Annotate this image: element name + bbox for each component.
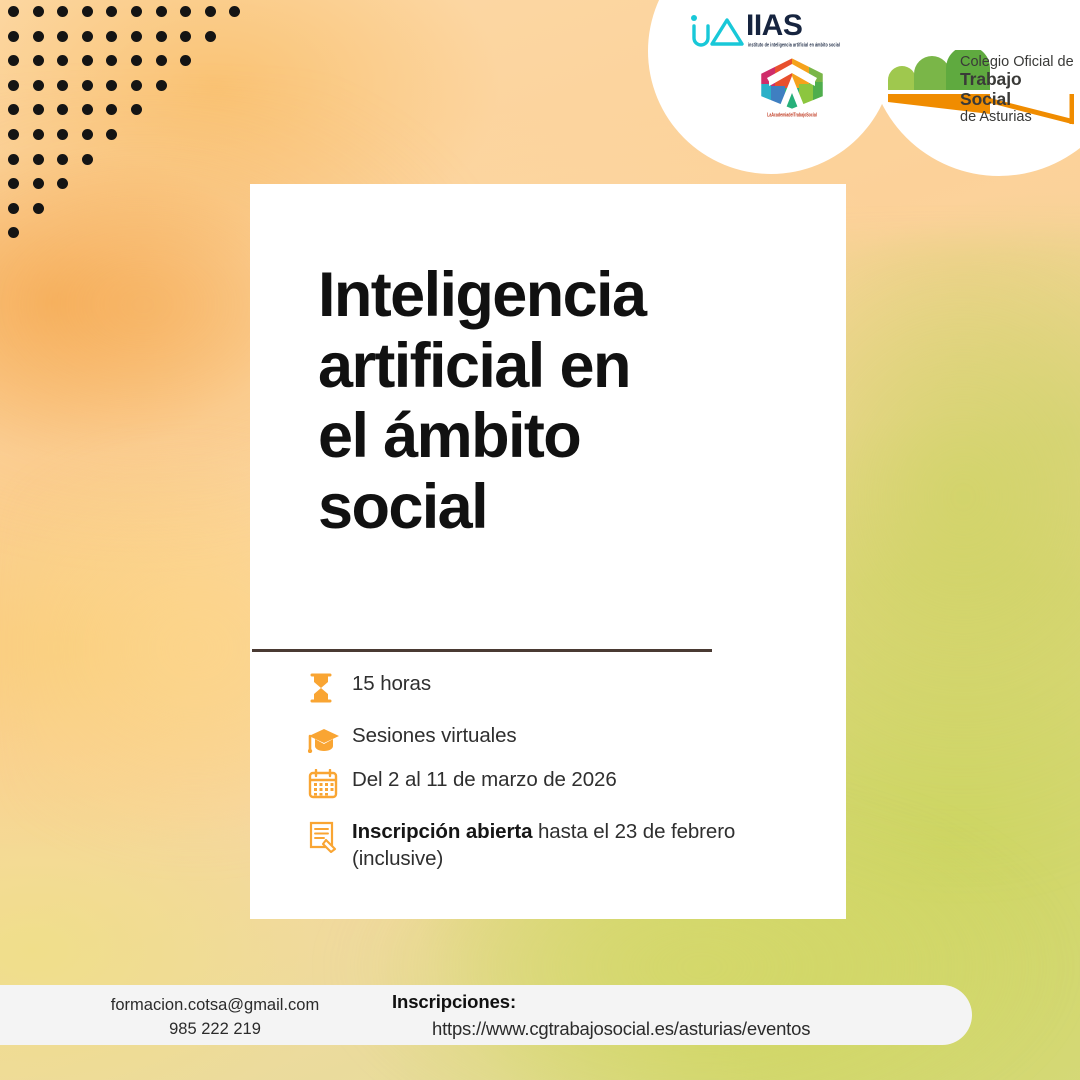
decorative-dot [106,31,117,42]
decorative-dot [106,129,117,140]
decorative-dot [8,203,19,214]
decorative-dot [8,31,19,42]
decorative-dot [205,6,216,17]
detail-row-registration: Inscripción abierta hasta el 23 de febre… [308,819,828,872]
decorative-dot [57,129,68,140]
title-line-3: el ámbito [318,401,718,472]
hourglass-icon [308,671,352,703]
decorative-dot [8,227,19,238]
decorative-dot [57,6,68,17]
decorative-dot [8,55,19,66]
decorative-dot [82,80,93,91]
cotsa-logo: Colegio Oficial de Trabajo Social de Ast… [884,50,1074,128]
decorative-dot [8,6,19,17]
decorative-dot [229,6,240,17]
decorative-dot [82,104,93,115]
decorative-dot [82,129,93,140]
decorative-dot [180,6,191,17]
detail-list: 15 horas Sesiones virtuales [308,671,828,872]
decorative-dot [8,129,19,140]
decorative-dot [106,104,117,115]
decorative-dot [156,80,167,91]
decorative-dot [8,80,19,91]
decorative-dot [82,31,93,42]
decorative-dot [82,6,93,17]
decorative-dot [8,154,19,165]
iias-wordmark: IIAS [746,11,802,41]
graduation-cap-icon [308,723,352,753]
poster-canvas: IIAS instituto de inteligencia artificia… [0,0,1080,1080]
decorative-dot [106,80,117,91]
decorative-dot [180,31,191,42]
detail-text-hours: 15 horas [352,671,431,698]
form-signup-icon [308,819,352,853]
decorative-dot [82,154,93,165]
decorative-dot [57,55,68,66]
decorative-dot [8,104,19,115]
footer-email[interactable]: formacion.cotsa@gmail.com [60,994,370,1018]
cotsa-symbol-icon [884,50,972,124]
registration-bold-label: Inscripción abierta [352,820,532,843]
decorative-dot [131,104,142,115]
decorative-dot [8,178,19,189]
decorative-dot [106,55,117,66]
academia-hexagon-icon [757,56,827,111]
decorative-dot [33,154,44,165]
detail-text-dates: Del 2 al 11 de marzo de 2026 [352,767,617,794]
detail-row-dates: Del 2 al 11 de marzo de 2026 [308,767,828,799]
detail-text-registration: Inscripción abierta hasta el 23 de febre… [352,819,828,872]
decorative-dot [131,31,142,42]
cotsa-line-1: Colegio Oficial de [960,54,1074,70]
decorative-dot [57,104,68,115]
decorative-dot [33,55,44,66]
decorative-dot [33,178,44,189]
iias-logo: IIAS instituto de inteligencia artificia… [688,12,828,58]
decorative-dot [156,6,167,17]
decorative-dot [131,80,142,91]
cotsa-text-block: Colegio Oficial de Trabajo Social de Ast… [960,54,1074,126]
detail-text-modality: Sesiones virtuales [352,723,517,750]
decorative-dot [180,55,191,66]
detail-row-hours: 15 horas [308,671,828,703]
cotsa-line-3: de Asturias [960,109,1074,125]
cotsa-line-2: Trabajo Social [960,70,1074,109]
decorative-dot [156,31,167,42]
content-card: Inteligencia artificial en el ámbito soc… [250,184,846,919]
decorative-dot [57,31,68,42]
iias-mark-icon [688,14,744,53]
decorative-dot [156,55,167,66]
footer-phone[interactable]: 985 222 219 [60,1018,370,1042]
footer-contact-block: formacion.cotsa@gmail.com 985 222 219 [60,994,370,1042]
detail-row-modality: Sesiones virtuales [308,723,828,753]
footer-registration-url[interactable]: https://www.cgtrabajosocial.es/asturias/… [432,1018,810,1040]
decorative-dot-pattern [0,0,260,250]
decorative-dot [33,129,44,140]
decorative-dot [106,6,117,17]
title-line-1: Inteligencia [318,260,718,331]
footer-inscripciones-label: Inscripciones: [392,991,516,1013]
title-line-4: social [318,472,718,543]
decorative-dot [33,31,44,42]
decorative-dot [82,55,93,66]
title-line-2: artificial en [318,331,718,402]
page-title: Inteligencia artificial en el ámbito soc… [318,260,718,542]
academia-tagline: LaAcademiadelTrabajoSocial [758,112,826,118]
academia-logo: LaAcademiadelTrabajoSocial [757,56,827,124]
decorative-dot [33,104,44,115]
iias-tagline: instituto de inteligencia artificial en … [748,42,840,48]
decorative-dot [205,31,216,42]
decorative-dot [33,203,44,214]
calendar-icon [308,767,352,799]
divider [252,649,712,652]
decorative-dot [33,6,44,17]
decorative-dot [57,178,68,189]
footer-bar: formacion.cotsa@gmail.com 985 222 219 In… [0,985,972,1045]
decorative-dot [33,80,44,91]
decorative-dot [131,55,142,66]
decorative-dot [57,80,68,91]
decorative-dot [57,154,68,165]
decorative-dot [131,6,142,17]
